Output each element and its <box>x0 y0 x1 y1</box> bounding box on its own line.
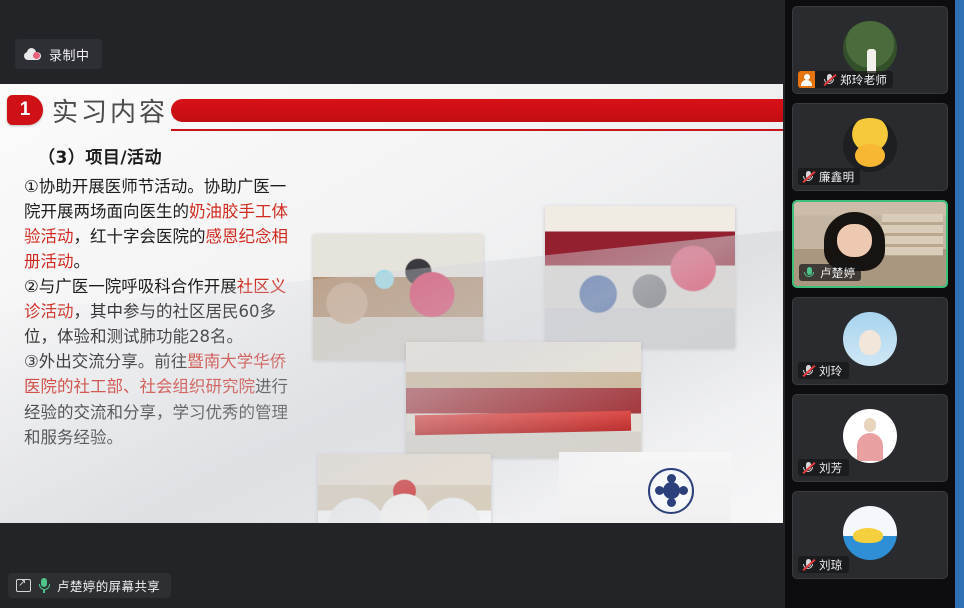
slide-number-badge: 1 <box>7 95 43 125</box>
avatar <box>843 409 897 463</box>
avatar <box>843 312 897 366</box>
microphone-on-icon <box>38 578 50 593</box>
photo-team-craft-activity <box>318 454 491 523</box>
host-person-icon <box>798 71 815 88</box>
avatar <box>843 506 897 560</box>
photo-group-banner <box>406 342 641 457</box>
body-text: ，红十字会医院的 <box>74 227 206 246</box>
participant-name: 刘琼 <box>819 557 843 573</box>
participant-name-strip: 刘琼 <box>798 556 849 573</box>
shared-screen-stage: 录制中 1 实习内容 （3）项目/活动 ①协助开展医师节活动。协助广医一院开展两… <box>0 0 785 608</box>
slide-subheading: （3）项目/活动 <box>38 146 300 172</box>
slide-header: 1 实习内容 <box>0 92 783 132</box>
body-text: ③外出交流分享。前往 <box>24 352 187 371</box>
title-underline <box>171 129 783 131</box>
participant-name-strip: 郑玲老师 <box>798 71 893 88</box>
screen-share-label: 卢楚婷的屏幕共享 <box>57 576 160 595</box>
photo-institute-plaque: 广州社会组织研究院 Guangzhou Institute of Social … <box>559 452 731 523</box>
screen-share-icon <box>16 579 31 592</box>
participant-tile[interactable]: 廉鑫明 <box>792 103 948 191</box>
avatar <box>843 21 897 75</box>
participant-name-strip: 卢楚婷 <box>799 264 861 281</box>
institute-seal-icon <box>648 468 694 514</box>
participant-tile[interactable]: 卢楚婷 <box>792 200 948 288</box>
presentation-slide: 1 实习内容 （3）项目/活动 ①协助开展医师节活动。协助广医一院开展两场面向医… <box>0 84 783 523</box>
participant-tile[interactable]: 刘琼 <box>792 491 948 579</box>
participant-name: 刘玲 <box>819 363 843 379</box>
slide-title: 实习内容 <box>52 92 168 129</box>
microphone-on-icon[interactable] <box>803 266 816 280</box>
participant-rail[interactable]: 郑玲老师廉鑫明卢楚婷刘玲刘芳刘琼 <box>785 0 955 608</box>
participant-tile[interactable]: 刘芳 <box>792 394 948 482</box>
title-accent-bar <box>171 99 783 122</box>
participant-name-strip: 廉鑫明 <box>798 168 860 185</box>
participant-name-strip: 刘芳 <box>798 459 849 476</box>
microphone-muted-icon[interactable] <box>802 170 815 184</box>
participant-name-strip: 刘玲 <box>798 362 849 379</box>
microphone-muted-icon[interactable] <box>823 73 836 87</box>
cloud-record-icon <box>24 48 41 60</box>
participant-name: 郑玲老师 <box>840 72 887 88</box>
slide-paragraphs: ①协助开展医师节活动。协助广医一院开展两场面向医生的奶油胶手工体验活动，红十字会… <box>24 174 300 450</box>
avatar <box>843 118 897 172</box>
participant-name: 卢楚婷 <box>820 265 855 281</box>
microphone-muted-icon[interactable] <box>802 364 815 378</box>
screen-share-status-bar: 卢楚婷的屏幕共享 <box>8 573 171 598</box>
microphone-muted-icon[interactable] <box>802 461 815 475</box>
recording-label: 录制中 <box>49 45 90 64</box>
microphone-muted-icon[interactable] <box>802 558 815 572</box>
participant-name: 刘芳 <box>819 460 843 476</box>
participant-tile[interactable]: 郑玲老师 <box>792 6 948 94</box>
participant-tile[interactable]: 刘玲 <box>792 297 948 385</box>
body-text: ②与广医一院呼吸科合作开展 <box>24 277 237 296</box>
slide-body-text: （3）项目/活动 ①协助开展医师节活动。协助广医一院开展两场面向医生的奶油胶手工… <box>24 146 300 450</box>
meeting-window: 录制中 1 实习内容 （3）项目/活动 ①协助开展医师节活动。协助广医一院开展两… <box>0 0 964 608</box>
rail-scrollbar[interactable] <box>955 0 964 608</box>
recording-indicator: 录制中 <box>15 39 102 69</box>
slide-paragraph: ②与广医一院呼吸科合作开展社区义诊活动，其中参与的社区居民60多位，体验和测试肺… <box>24 274 300 349</box>
photo-community-clinic-fair <box>545 206 735 348</box>
participant-name: 廉鑫明 <box>819 169 854 185</box>
body-text: 。 <box>74 252 91 271</box>
slide-paragraph: ③外出交流分享。前往暨南大学华侨医院的社工部、社会组织研究院进行经验的交流和分享… <box>24 349 300 449</box>
slide-paragraph: ①协助开展医师节活动。协助广医一院开展两场面向医生的奶油胶手工体验活动，红十字会… <box>24 174 300 274</box>
